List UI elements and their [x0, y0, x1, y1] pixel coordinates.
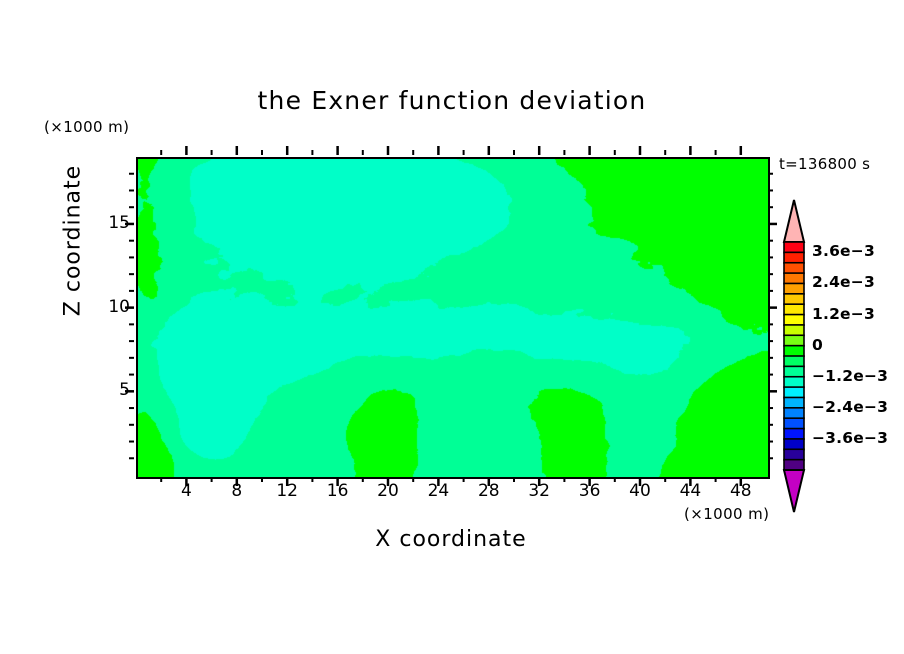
colorbar-band [784, 387, 804, 398]
plot-canvas: the Exner function deviation (×1000 m) Z… [0, 0, 904, 654]
colorbar-band [784, 294, 804, 305]
colorbar-band [784, 439, 804, 450]
contour-field [138, 159, 768, 477]
colorbar-over-arrow [784, 200, 804, 242]
x-tick-label: 20 [368, 481, 408, 501]
x-tick-label: 44 [670, 481, 710, 501]
colorbar-band [784, 325, 804, 336]
x-tick-label: 32 [519, 481, 559, 501]
colorbar-band [784, 335, 804, 346]
colorbar-band [784, 418, 804, 429]
time-stamp-annotation: t=136800 s [779, 155, 870, 173]
colorbar-band [784, 397, 804, 408]
colorbar-band [784, 449, 804, 460]
y-axis-unit-label: (×1000 m) [44, 118, 129, 136]
colorbar-under-arrow [784, 470, 804, 512]
colorbar-band [784, 460, 804, 471]
x-tick-label: 28 [469, 481, 509, 501]
colorbar-tick-label: −3.6e−3 [812, 429, 888, 447]
colorbar-band [784, 252, 804, 263]
x-tick-label: 40 [620, 481, 660, 501]
colorbar-band [784, 346, 804, 357]
colorbar-band [784, 408, 804, 419]
y-axis-title: Z coordinate [61, 146, 86, 336]
x-tick-label: 36 [570, 481, 610, 501]
y-tick-label: 15 [96, 213, 130, 233]
x-tick-label: 4 [166, 481, 206, 501]
colorbar-tick-label: 0 [812, 336, 823, 354]
x-tick-label: 24 [418, 481, 458, 501]
colorbar-band [784, 304, 804, 315]
x-axis-unit-label: (×1000 m) [684, 505, 769, 523]
colorbar-tick-label: 1.2e−3 [812, 305, 875, 323]
y-tick-label: 5 [96, 380, 130, 400]
colorbar-band [784, 366, 804, 377]
contour-plot-area [136, 157, 770, 479]
page-title: the Exner function deviation [0, 86, 904, 115]
colorbar-band [784, 242, 804, 253]
x-axis-title: X coordinate [136, 527, 766, 552]
colorbar-tick-label: 2.4e−3 [812, 273, 875, 291]
colorbar-band [784, 273, 804, 284]
colorbar-tick-label: 3.6e−3 [812, 242, 875, 260]
colorbar-tick-label: −1.2e−3 [812, 367, 888, 385]
colorbar-band [784, 283, 804, 294]
colorbar-band [784, 315, 804, 326]
colorbar-band [784, 377, 804, 388]
colorbar-band [784, 263, 804, 274]
x-tick-label: 12 [267, 481, 307, 501]
colorbar-band [784, 429, 804, 440]
y-tick-label: 10 [96, 297, 130, 317]
x-tick-label: 48 [721, 481, 761, 501]
colorbar-tick-label: −2.4e−3 [812, 398, 888, 416]
x-tick-label: 16 [318, 481, 358, 501]
colorbar-band [784, 356, 804, 367]
x-tick-label: 8 [217, 481, 257, 501]
